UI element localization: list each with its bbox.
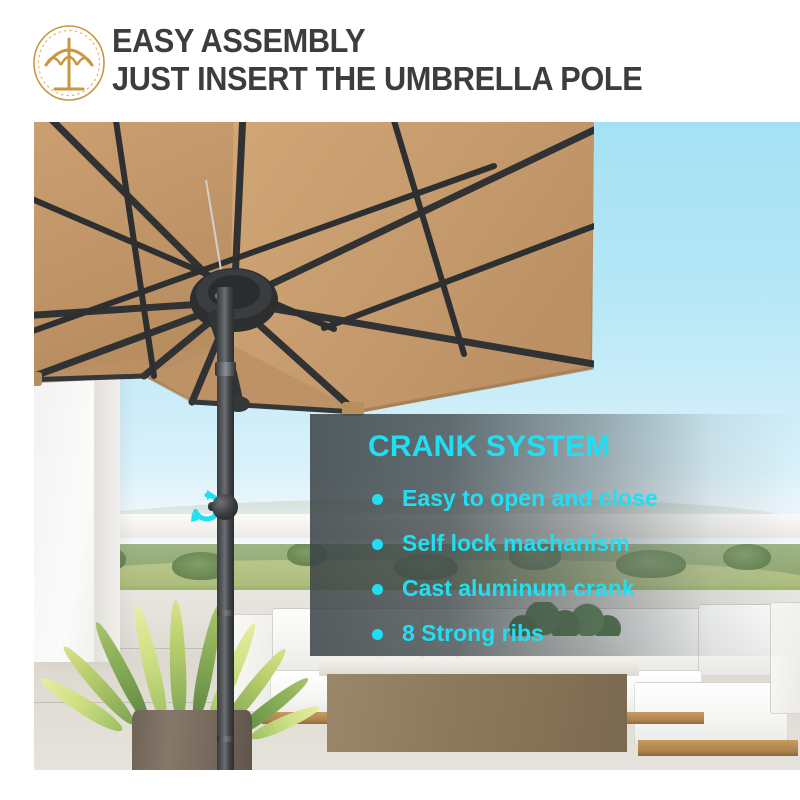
concrete-coffee-table	[319, 658, 639, 754]
bullet-dot-icon	[372, 629, 383, 640]
title-line-2: JUST INSERT THE UMBRELLA POLE	[112, 60, 744, 98]
agave-plant-group	[104, 600, 294, 770]
pole-joint	[217, 610, 234, 616]
pole-joint	[217, 736, 234, 742]
umbrella-pole	[217, 287, 234, 770]
feature-list: Easy to open and close Self lock machani…	[368, 476, 658, 656]
pole-collar	[215, 362, 236, 376]
product-lifestyle-photo: CRANK SYSTEM Easy to open and close Self…	[34, 122, 800, 770]
bullet-dot-icon	[372, 539, 383, 550]
header: EASY ASSEMBLY JUST INSERT THE UMBRELLA P…	[0, 0, 800, 122]
bullet-dot-icon	[372, 584, 383, 595]
crank-system-overlay: CRANK SYSTEM Easy to open and close Self…	[310, 414, 800, 656]
page-title: EASY ASSEMBLY JUST INSERT THE UMBRELLA P…	[112, 22, 792, 98]
poster-canvas: EASY ASSEMBLY JUST INSERT THE UMBRELLA P…	[0, 0, 800, 800]
list-item-label: Easy to open and close	[402, 485, 658, 511]
list-item-label: Cast aluminum crank	[402, 575, 635, 601]
list-item: Cast aluminum crank	[368, 566, 658, 611]
list-item: Self lock machanism	[368, 521, 658, 566]
list-item: 8 Strong ribs	[368, 611, 658, 656]
overlay-title: CRANK SYSTEM	[368, 430, 610, 464]
list-item: Easy to open and close	[368, 476, 658, 521]
beach-umbrella-icon	[30, 23, 108, 103]
patio-umbrella	[34, 122, 594, 444]
title-line-1: EASY ASSEMBLY	[112, 22, 744, 60]
bullet-dot-icon	[372, 494, 383, 505]
list-item-label: Self lock machanism	[402, 530, 630, 556]
concrete-planter	[132, 710, 252, 770]
crank-handle-icon	[206, 494, 238, 520]
list-item-label: 8 Strong ribs	[402, 620, 544, 646]
